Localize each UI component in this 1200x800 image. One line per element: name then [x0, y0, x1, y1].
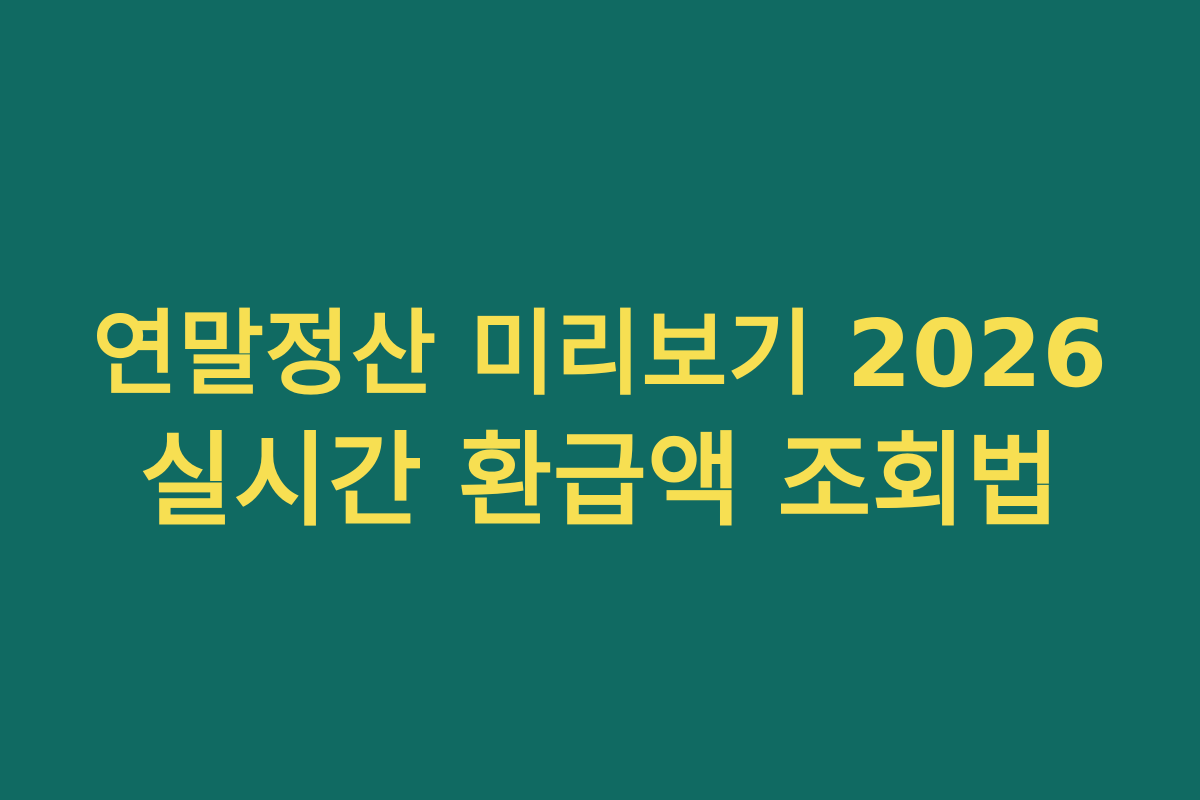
- headline-block: 연말정산 미리보기 2026 실시간 환급액 조회법: [0, 290, 1200, 546]
- headline-line-2: 실시간 환급액 조회법: [139, 418, 1060, 546]
- banner-canvas: 연말정산 미리보기 2026 실시간 환급액 조회법: [0, 0, 1200, 800]
- headline-line-1: 연말정산 미리보기 2026: [92, 290, 1107, 418]
